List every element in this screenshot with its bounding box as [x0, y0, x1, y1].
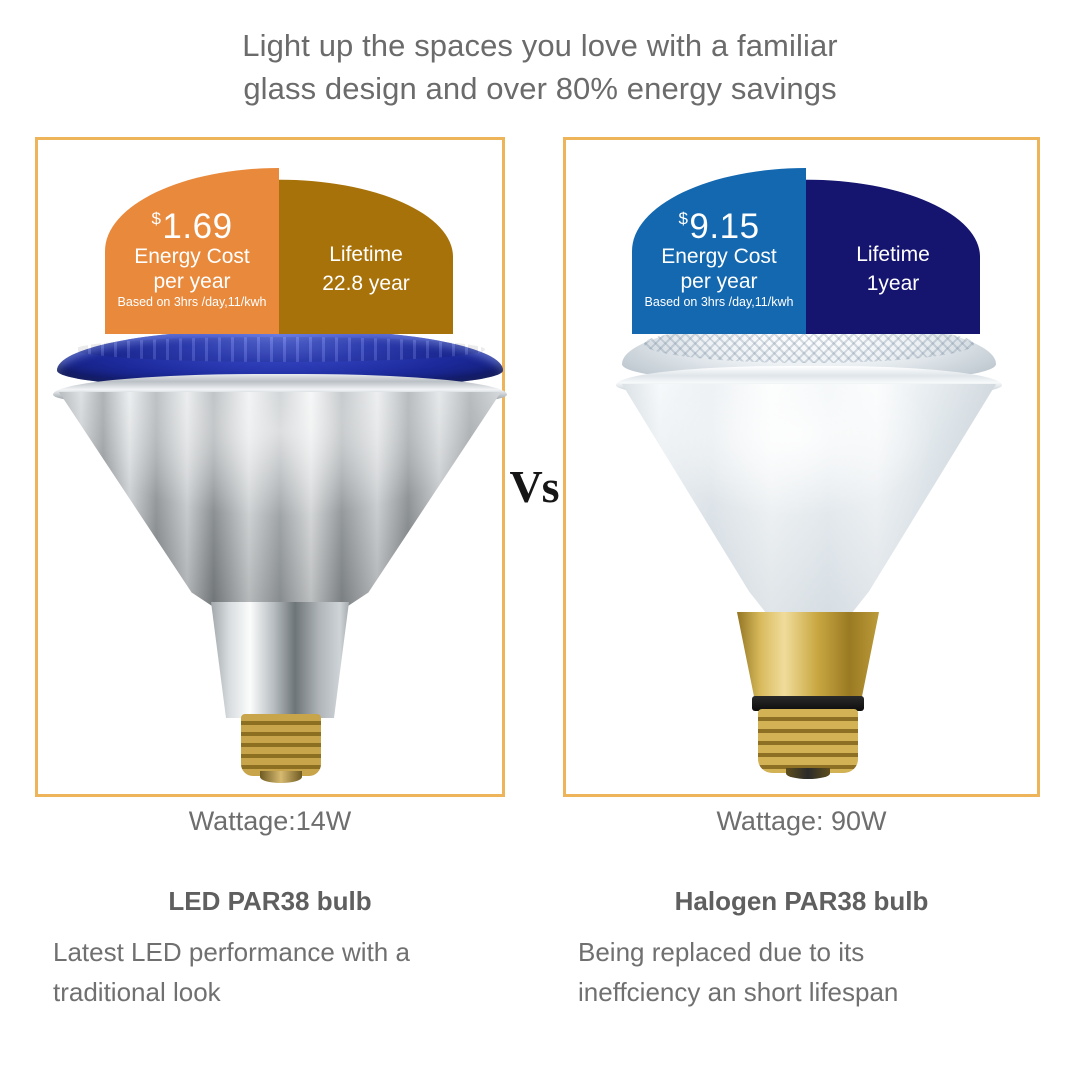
led-cost-label-line2: per year — [105, 269, 279, 294]
led-reflector-body — [59, 392, 501, 610]
led-energy-cost-note: Based on 3hrs /day,11/kwh — [105, 294, 279, 310]
led-energy-cost-value: $1.69 — [105, 201, 279, 245]
led-cost-label-line1: Energy Cost — [105, 244, 279, 269]
price-number: 1.69 — [162, 207, 232, 246]
halogen-energy-cost-value: $9.15 — [632, 201, 806, 245]
page-title: Light up the spaces you love with a fami… — [0, 24, 1080, 110]
halogen-energy-cost-note: Based on 3hrs /day,11/kwh — [632, 294, 806, 310]
led-edison-base — [241, 714, 321, 776]
halogen-stats-badge: $9.15 Energy Cost per year Based on 3hrs… — [632, 168, 980, 334]
halogen-desc-line-2: ineffciency an short lifespan — [578, 972, 1068, 1012]
led-energy-cost-label: Energy Cost per year — [105, 244, 279, 294]
halogen-reflector-body — [622, 384, 996, 620]
product-name-led: LED PAR38 bulb — [35, 886, 505, 917]
led-stats-badge: $1.69 Energy Cost per year Based on 3hrs… — [105, 168, 453, 334]
halogen-lifetime-value: 1year — [806, 269, 980, 298]
led-neck — [205, 602, 355, 718]
versus-divider: Vs — [505, 456, 563, 516]
product-description-halogen: Being replaced due to its ineffciency an… — [578, 932, 1068, 1012]
infographic-page: Light up the spaces you love with a fami… — [0, 0, 1080, 1080]
headline-line-2: glass design and over 80% energy savings — [0, 67, 1080, 110]
halogen-cost-label-line2: per year — [632, 269, 806, 294]
halogen-lifetime-block: Lifetime 1year — [806, 240, 980, 298]
halogen-lifetime-label: Lifetime — [806, 240, 980, 269]
led-lifetime-value: 22.8 year — [279, 269, 453, 298]
price-number: 9.15 — [689, 207, 759, 246]
product-description-led: Latest LED performance with a traditiona… — [53, 932, 523, 1012]
halogen-brass-collar — [734, 612, 882, 700]
led-lifetime-label: Lifetime — [279, 240, 453, 269]
halogen-edison-base — [758, 709, 858, 773]
wattage-led: Wattage:14W — [35, 806, 505, 837]
led-lifetime-block: Lifetime 22.8 year — [279, 240, 453, 298]
halogen-bulb-image — [600, 320, 1020, 790]
led-desc-line-2: traditional look — [53, 972, 523, 1012]
product-name-halogen: Halogen PAR38 bulb — [563, 886, 1040, 917]
halogen-desc-line-1: Being replaced due to its — [578, 932, 1068, 972]
currency-symbol: $ — [151, 209, 161, 228]
wattage-halogen: Wattage: 90W — [563, 806, 1040, 837]
led-desc-line-1: Latest LED performance with a — [53, 932, 523, 972]
led-bulb-image — [45, 330, 515, 790]
halogen-energy-cost-label: Energy Cost per year — [632, 244, 806, 294]
halogen-cost-label-line1: Energy Cost — [632, 244, 806, 269]
headline-line-1: Light up the spaces you love with a fami… — [0, 24, 1080, 67]
currency-symbol: $ — [678, 209, 688, 228]
